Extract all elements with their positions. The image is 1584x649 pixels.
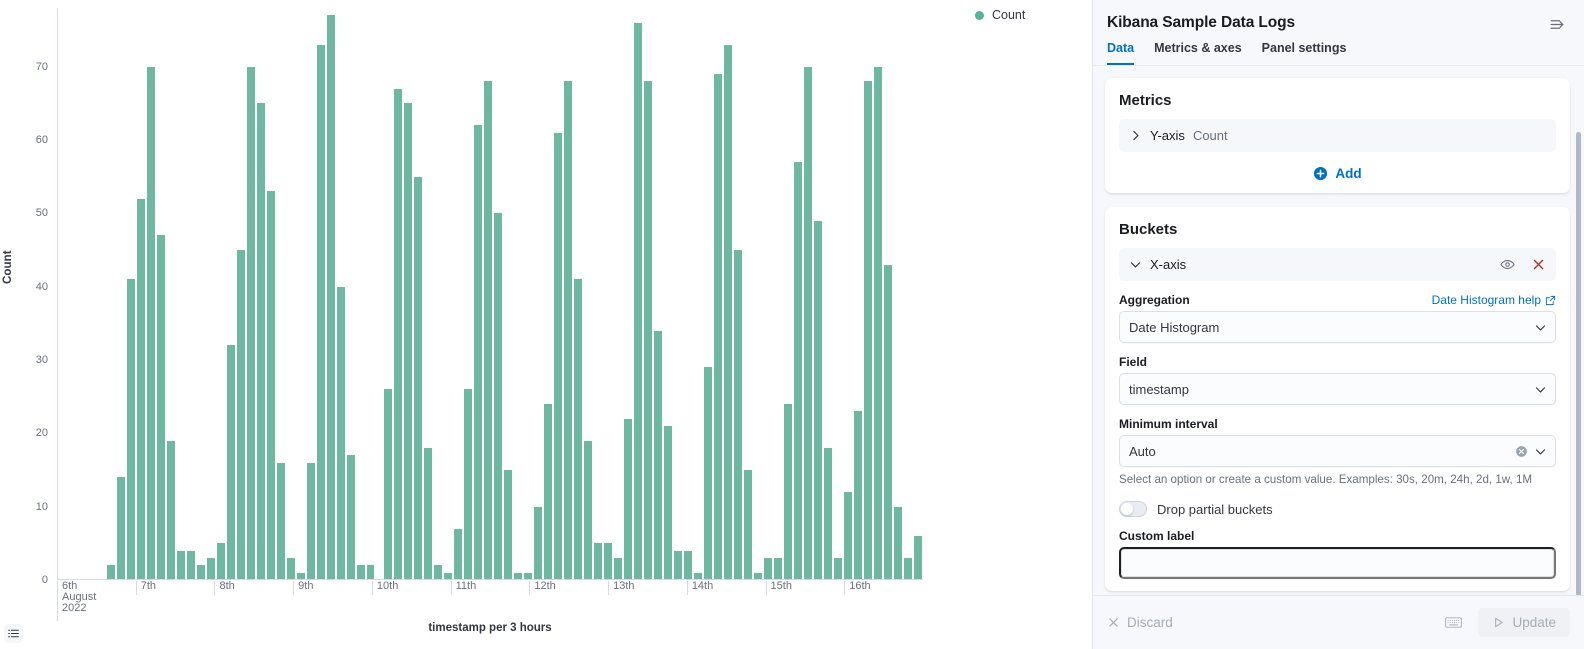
- eye-icon[interactable]: [1500, 257, 1515, 272]
- bar[interactable]: [903, 557, 913, 579]
- chart-legend[interactable]: Count: [975, 8, 1025, 22]
- bar[interactable]: [543, 403, 553, 579]
- y-axis-ticks: 010203040506070: [0, 0, 56, 649]
- plus-circle-icon: [1313, 166, 1328, 181]
- editor-scroll-region[interactable]: Metrics Y-axis Count Add Buckets: [1093, 66, 1584, 595]
- chevron-down-icon: [1534, 383, 1547, 396]
- aggregation-label: Aggregation: [1119, 293, 1190, 307]
- x-axis-ticks: 6thAugust20227th8th9th10th11th12th13th14…: [57, 581, 923, 627]
- bar[interactable]: [423, 447, 433, 579]
- bar[interactable]: [703, 366, 713, 579]
- bar[interactable]: [246, 66, 256, 579]
- bar[interactable]: [473, 124, 483, 579]
- bar[interactable]: [573, 278, 583, 579]
- bar[interactable]: [583, 440, 593, 579]
- bar[interactable]: [106, 564, 116, 579]
- bar[interactable]: [403, 102, 413, 579]
- list-icon[interactable]: [4, 624, 23, 643]
- y-axis-tick-label: 40: [36, 281, 48, 293]
- bar[interactable]: [463, 388, 473, 579]
- bar[interactable]: [523, 572, 533, 579]
- custom-label-field-block: Custom label: [1119, 529, 1556, 579]
- bar[interactable]: [683, 550, 693, 579]
- buckets-title: Buckets: [1119, 221, 1556, 238]
- y-axis-tick-label: 0: [42, 574, 48, 586]
- x-axis-tick-label: 8th: [214, 581, 234, 595]
- help-link-label: Date Histogram help: [1432, 293, 1541, 307]
- bar[interactable]: [383, 388, 393, 579]
- x-axis-tick-label: 6thAugust2022: [57, 581, 96, 621]
- bar[interactable]: [503, 469, 513, 579]
- chart-pane: Count Count 010203040506070 6thAugust202…: [0, 0, 1092, 649]
- bar[interactable]: [723, 44, 733, 579]
- tab-data[interactable]: Data: [1107, 41, 1134, 65]
- tab-panel-settings[interactable]: Panel settings: [1262, 41, 1347, 65]
- bar[interactable]: [743, 469, 753, 579]
- y-axis-tick-label: 50: [36, 207, 48, 219]
- metric-row-value: Count: [1193, 128, 1228, 143]
- bar[interactable]: [346, 454, 356, 579]
- aggregation-select[interactable]: Date Histogram: [1119, 311, 1556, 343]
- chevron-down-icon: [1129, 258, 1142, 271]
- keyboard-shortcuts-icon[interactable]: [1439, 616, 1468, 629]
- play-triangle-icon: [1492, 616, 1505, 629]
- min-interval-value: Auto: [1129, 444, 1156, 459]
- close-x-icon[interactable]: [1531, 257, 1546, 272]
- x-axis-tick-label: 16th: [844, 581, 870, 595]
- x-axis-tick-label: 7th: [136, 581, 156, 595]
- kibana-visualize-editor: Count Count 010203040506070 6thAugust202…: [0, 0, 1584, 649]
- bar[interactable]: [593, 542, 603, 579]
- legend-color-dot: [975, 11, 984, 20]
- bar[interactable]: [286, 557, 296, 579]
- x-axis-tick-label: 12th: [529, 581, 555, 595]
- bar[interactable]: [773, 557, 783, 579]
- bar[interactable]: [326, 14, 336, 579]
- discard-button[interactable]: Discard: [1107, 615, 1173, 630]
- x-axis-tick-label: 11th: [451, 581, 477, 595]
- metrics-card: Metrics Y-axis Count Add: [1105, 78, 1570, 193]
- editor-scrollbar[interactable]: [1576, 132, 1581, 595]
- drop-partial-buckets-label: Drop partial buckets: [1157, 502, 1273, 517]
- bar[interactable]: [753, 572, 763, 579]
- bar[interactable]: [226, 344, 236, 579]
- y-axis-tick-label: 70: [36, 61, 48, 73]
- bar[interactable]: [206, 557, 216, 579]
- bar[interactable]: [146, 66, 156, 579]
- tab-metrics-axes[interactable]: Metrics & axes: [1154, 41, 1242, 65]
- bar[interactable]: [553, 132, 563, 579]
- editor-header: Kibana Sample Data Logs: [1093, 0, 1584, 33]
- min-interval-label: Minimum interval: [1119, 417, 1218, 431]
- bar[interactable]: [166, 440, 176, 579]
- bar[interactable]: [823, 447, 833, 579]
- min-interval-hint: Select an option or create a custom valu…: [1119, 472, 1556, 487]
- min-interval-select[interactable]: Auto: [1119, 435, 1556, 467]
- aggregation-value: Date Histogram: [1129, 320, 1219, 335]
- bar[interactable]: [713, 73, 723, 579]
- bar[interactable]: [336, 286, 346, 579]
- bar[interactable]: [413, 176, 423, 579]
- bar[interactable]: [513, 572, 523, 579]
- x-axis-title: timestamp per 3 hours: [57, 622, 923, 634]
- bar[interactable]: [733, 249, 743, 579]
- date-histogram-help-link[interactable]: Date Histogram help: [1432, 293, 1556, 307]
- field-field-block: Field timestamp: [1119, 355, 1556, 405]
- bar[interactable]: [813, 220, 823, 579]
- bar[interactable]: [216, 542, 226, 579]
- bar[interactable]: [433, 564, 443, 579]
- buckets-card: Buckets X-axis: [1105, 207, 1570, 591]
- close-x-icon: [1107, 616, 1120, 629]
- bar[interactable]: [256, 102, 266, 579]
- field-select[interactable]: timestamp: [1119, 373, 1556, 405]
- bar-series[interactable]: [58, 7, 923, 579]
- drop-partial-buckets-row[interactable]: Drop partial buckets: [1119, 501, 1556, 517]
- custom-label-input[interactable]: [1119, 547, 1556, 579]
- bar[interactable]: [493, 212, 503, 579]
- bar[interactable]: [186, 550, 196, 579]
- bar[interactable]: [913, 535, 923, 579]
- metrics-title: Metrics: [1119, 92, 1556, 109]
- bar[interactable]: [883, 264, 893, 579]
- bar[interactable]: [803, 66, 813, 579]
- x-axis-tick-label: 15th: [766, 581, 792, 595]
- bar[interactable]: [653, 330, 663, 579]
- clear-circle-icon[interactable]: [1515, 445, 1528, 458]
- x-axis-tick-label: 9th: [293, 581, 313, 595]
- editor-tabs[interactable]: DataMetrics & axesPanel settings: [1093, 33, 1584, 66]
- discard-label: Discard: [1127, 615, 1173, 630]
- bar[interactable]: [296, 572, 306, 579]
- external-link-icon: [1545, 295, 1556, 306]
- bar[interactable]: [316, 44, 326, 579]
- bar[interactable]: [306, 462, 316, 579]
- bar[interactable]: [136, 198, 146, 579]
- bar[interactable]: [673, 550, 683, 579]
- bar[interactable]: [623, 418, 633, 579]
- add-metric-label: Add: [1335, 166, 1361, 181]
- bar[interactable]: [613, 557, 623, 579]
- field-value: timestamp: [1129, 382, 1189, 397]
- bar[interactable]: [533, 506, 543, 579]
- bar[interactable]: [236, 249, 246, 579]
- aggregation-field-block: Aggregation Date Histogram help Date His…: [1119, 293, 1556, 343]
- drop-partial-buckets-toggle[interactable]: [1119, 501, 1147, 517]
- field-label: Field: [1119, 355, 1147, 369]
- y-axis-tick-label: 10: [36, 501, 48, 513]
- bar[interactable]: [763, 557, 773, 579]
- bar[interactable]: [453, 528, 463, 579]
- bar[interactable]: [443, 572, 453, 579]
- bar[interactable]: [563, 80, 573, 579]
- y-axis-tick-label: 20: [36, 427, 48, 439]
- bar[interactable]: [663, 425, 673, 579]
- x-axis-tick-label: 14th: [687, 581, 713, 595]
- bar[interactable]: [276, 462, 286, 579]
- bar[interactable]: [266, 190, 276, 579]
- metric-row-y-axis[interactable]: Y-axis Count: [1119, 119, 1556, 152]
- bar[interactable]: [633, 22, 643, 579]
- bar[interactable]: [196, 564, 206, 579]
- bar[interactable]: [156, 234, 166, 579]
- add-metric-button[interactable]: Add: [1119, 166, 1556, 181]
- bar[interactable]: [853, 410, 863, 579]
- collapse-panel-icon[interactable]: [1549, 14, 1566, 33]
- bucket-row-x-axis[interactable]: X-axis: [1119, 248, 1556, 281]
- bar[interactable]: [116, 476, 126, 579]
- bar[interactable]: [126, 278, 136, 579]
- bar[interactable]: [393, 88, 403, 579]
- chevron-down-icon: [1534, 321, 1547, 334]
- update-button[interactable]: Update: [1478, 608, 1570, 637]
- chart-plot-area: [57, 8, 923, 580]
- y-axis-tick-label: 30: [36, 354, 48, 366]
- bar[interactable]: [793, 161, 803, 579]
- bar[interactable]: [863, 80, 873, 579]
- toggle-knob: [1121, 503, 1133, 515]
- chevron-right-icon: [1129, 129, 1142, 142]
- update-label: Update: [1512, 615, 1556, 630]
- page-title: Kibana Sample Data Logs: [1107, 14, 1295, 32]
- editor-footer: Discard Update: [1093, 595, 1584, 649]
- bar[interactable]: [483, 80, 493, 579]
- bar[interactable]: [873, 66, 883, 579]
- legend-label: Count: [992, 8, 1025, 22]
- y-axis-tick-label: 60: [36, 134, 48, 146]
- x-axis-tick-label: 13th: [608, 581, 634, 595]
- bucket-row-label: X-axis: [1150, 257, 1186, 272]
- chevron-down-icon: [1534, 445, 1547, 458]
- min-interval-field-block: Minimum interval Auto Select an option o…: [1119, 417, 1556, 487]
- bar[interactable]: [603, 542, 613, 579]
- visualization-editor-panel: Kibana Sample Data Logs DataMetrics & ax…: [1092, 0, 1584, 649]
- bar[interactable]: [783, 403, 793, 579]
- bar[interactable]: [643, 80, 653, 579]
- bar[interactable]: [366, 564, 376, 579]
- bar[interactable]: [176, 550, 186, 579]
- custom-label-label: Custom label: [1119, 529, 1194, 543]
- bar[interactable]: [843, 491, 853, 579]
- bar[interactable]: [893, 506, 903, 579]
- bar[interactable]: [356, 564, 366, 579]
- bar[interactable]: [833, 557, 843, 579]
- x-axis-tick-label: 10th: [372, 581, 398, 595]
- metric-row-prefix: Y-axis: [1150, 128, 1185, 143]
- bar[interactable]: [693, 572, 703, 579]
